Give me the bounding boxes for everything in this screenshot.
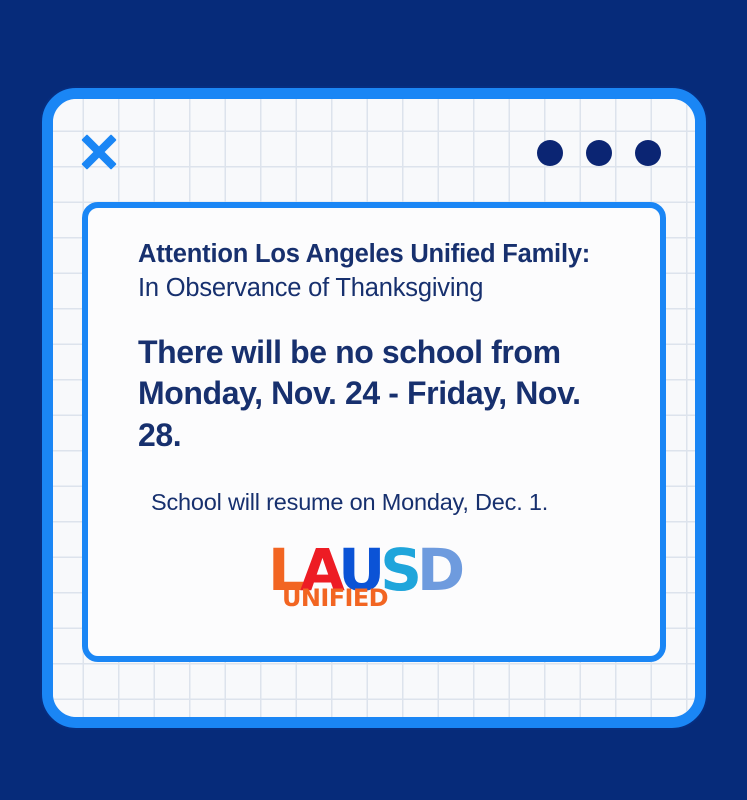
window-dots [537, 140, 661, 166]
resume-text: School will resume on Monday, Dec. 1. [151, 487, 616, 519]
close-icon[interactable] [78, 131, 120, 173]
intro-text: Attention Los Angeles Unified Family: In… [138, 238, 616, 306]
poster-canvas: Attention Los Angeles Unified Family: In… [0, 0, 747, 800]
announcement-card: Attention Los Angeles Unified Family: In… [82, 202, 666, 662]
lausd-logo: LAUSD UNIFIED [268, 541, 486, 611]
intro-rest-text: In Observance of Thanksgiving [138, 274, 483, 302]
logo-letter-d: D [417, 536, 460, 604]
headline-text: There will be no school from Monday, Nov… [138, 332, 616, 457]
dot-3[interactable] [635, 140, 661, 166]
logo-subtitle: UNIFIED [282, 586, 388, 610]
dot-2[interactable] [586, 140, 612, 166]
dot-1[interactable] [537, 140, 563, 166]
intro-bold-text: Attention Los Angeles Unified Family: [138, 240, 590, 268]
